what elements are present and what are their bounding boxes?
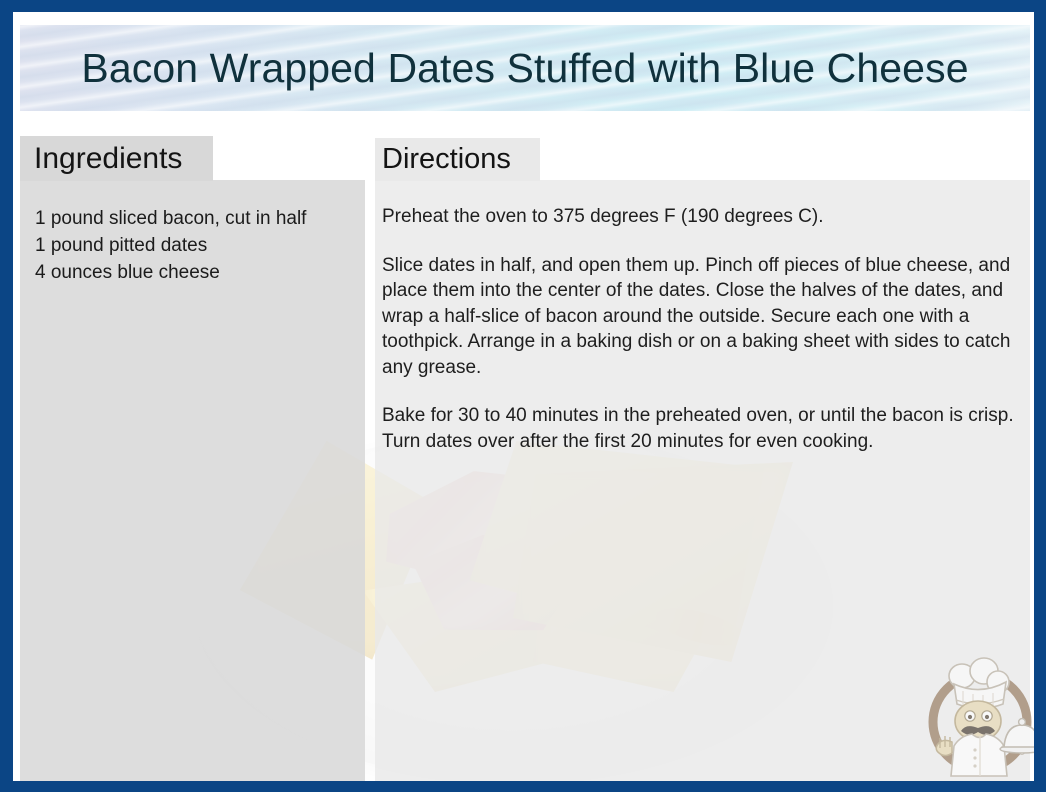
tab-directions[interactable]: Directions: [375, 138, 540, 181]
direction-step: Bake for 30 to 40 minutes in the preheat…: [382, 403, 1022, 454]
recipe-page: Bacon Wrapped Dates Stuffed with Blue Ch…: [13, 12, 1034, 781]
tab-ingredients-label: Ingredients: [34, 142, 182, 176]
recipe-card: Bacon Wrapped Dates Stuffed with Blue Ch…: [0, 0, 1046, 792]
direction-step: Slice dates in half, and open them up. P…: [382, 253, 1022, 381]
list-item: 4 ounces blue cheese: [35, 259, 355, 286]
direction-step: Preheat the oven to 375 degrees F (190 d…: [382, 204, 1022, 230]
list-item: 1 pound pitted dates: [35, 232, 355, 259]
directions-steps: Preheat the oven to 375 degrees F (190 d…: [382, 204, 1022, 454]
tab-ingredients[interactable]: Ingredients: [20, 136, 213, 181]
chef-logo: [918, 650, 1034, 781]
ingredients-list: 1 pound sliced bacon, cut in half 1 poun…: [35, 205, 355, 286]
tab-directions-label: Directions: [382, 143, 511, 176]
title-banner: Bacon Wrapped Dates Stuffed with Blue Ch…: [20, 25, 1030, 111]
page-title: Bacon Wrapped Dates Stuffed with Blue Ch…: [81, 45, 968, 92]
list-item: 1 pound sliced bacon, cut in half: [35, 205, 355, 232]
